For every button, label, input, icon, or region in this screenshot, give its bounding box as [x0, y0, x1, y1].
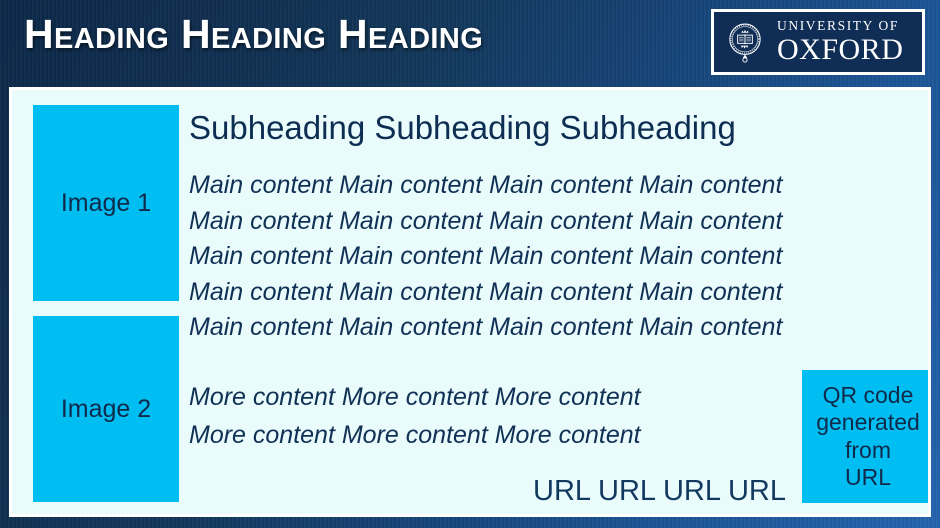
poster-canvas: Heading Heading Heading — [0, 0, 940, 528]
more-content-line: More content More content More content — [189, 416, 641, 454]
qr-code-placeholder: QR code generated from URL — [802, 370, 928, 503]
main-content-block: Main content Main content Main content M… — [189, 168, 782, 346]
main-content-line: Main content Main content Main content M… — [189, 168, 782, 204]
image-placeholder-1-label: Image 1 — [61, 189, 151, 218]
oxford-oxford-text: OXFORD — [777, 35, 903, 65]
qr-placeholder-line-4: URL — [845, 464, 891, 491]
qr-placeholder-line-3: from — [845, 437, 891, 464]
more-content-block: More content More content More content M… — [189, 378, 641, 454]
main-content-line: Main content Main content Main content M… — [189, 204, 782, 240]
image-placeholder-1: Image 1 — [33, 105, 179, 301]
main-content-line: Main content Main content Main content M… — [189, 239, 782, 275]
oxford-logo: UNIVERSITY OF OXFORD — [711, 9, 925, 75]
main-content-line: Main content Main content Main content M… — [189, 275, 782, 311]
main-content-line: Main content Main content Main content M… — [189, 310, 782, 346]
content-panel: Image 1 Image 2 Subheading Subheading Su… — [12, 90, 928, 514]
content-panel-border: Image 1 Image 2 Subheading Subheading Su… — [9, 87, 931, 517]
more-content-line: More content More content More content — [189, 378, 641, 416]
oxford-university-of-text: UNIVERSITY OF — [777, 19, 903, 33]
image-placeholder-2: Image 2 — [33, 316, 179, 502]
page-title: Heading Heading Heading — [24, 11, 483, 58]
oxford-crest-icon — [722, 19, 768, 65]
oxford-wordmark: UNIVERSITY OF OXFORD — [777, 19, 903, 65]
subheading: Subheading Subheading Subheading — [189, 109, 736, 147]
image-placeholder-2-label: Image 2 — [61, 395, 151, 424]
qr-placeholder-line-1: QR code — [823, 382, 914, 409]
url-text: URL URL URL URL — [456, 475, 786, 508]
header-band: Heading Heading Heading — [0, 0, 940, 84]
qr-placeholder-line-2: generated — [816, 409, 920, 436]
